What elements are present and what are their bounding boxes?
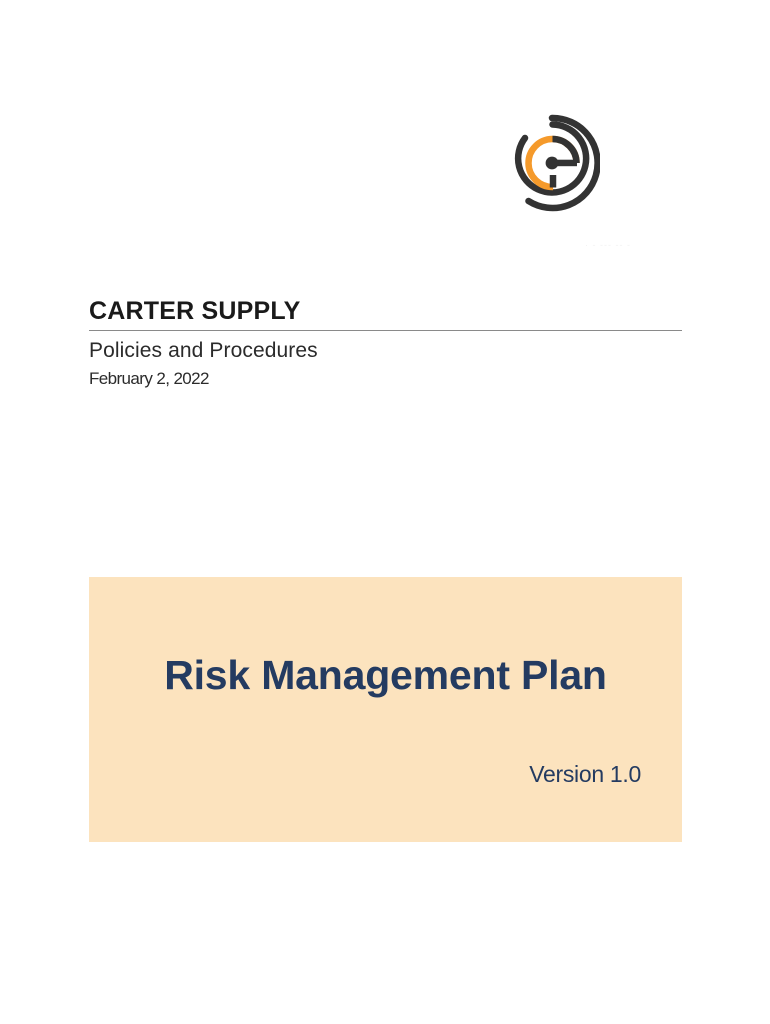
document-kind: Policies and Procedures [89, 336, 682, 366]
title-panel: Risk Management Plan Version 1.0 [89, 577, 682, 842]
document-page: · - --- -- - CARTER SUPPLY Policies and … [0, 0, 770, 1024]
header-divider [89, 330, 682, 331]
document-version: Version 1.0 [529, 759, 641, 789]
document-header: CARTER SUPPLY Policies and Procedures Fe… [89, 296, 682, 391]
document-date: February 2, 2022 [89, 367, 682, 391]
organization-name: CARTER SUPPLY [89, 296, 682, 326]
carter-supply-logo-icon [505, 113, 600, 213]
logo-block [505, 113, 600, 215]
logo-subtext: · - --- -- - [585, 238, 645, 252]
document-title: Risk Management Plan [89, 649, 682, 701]
